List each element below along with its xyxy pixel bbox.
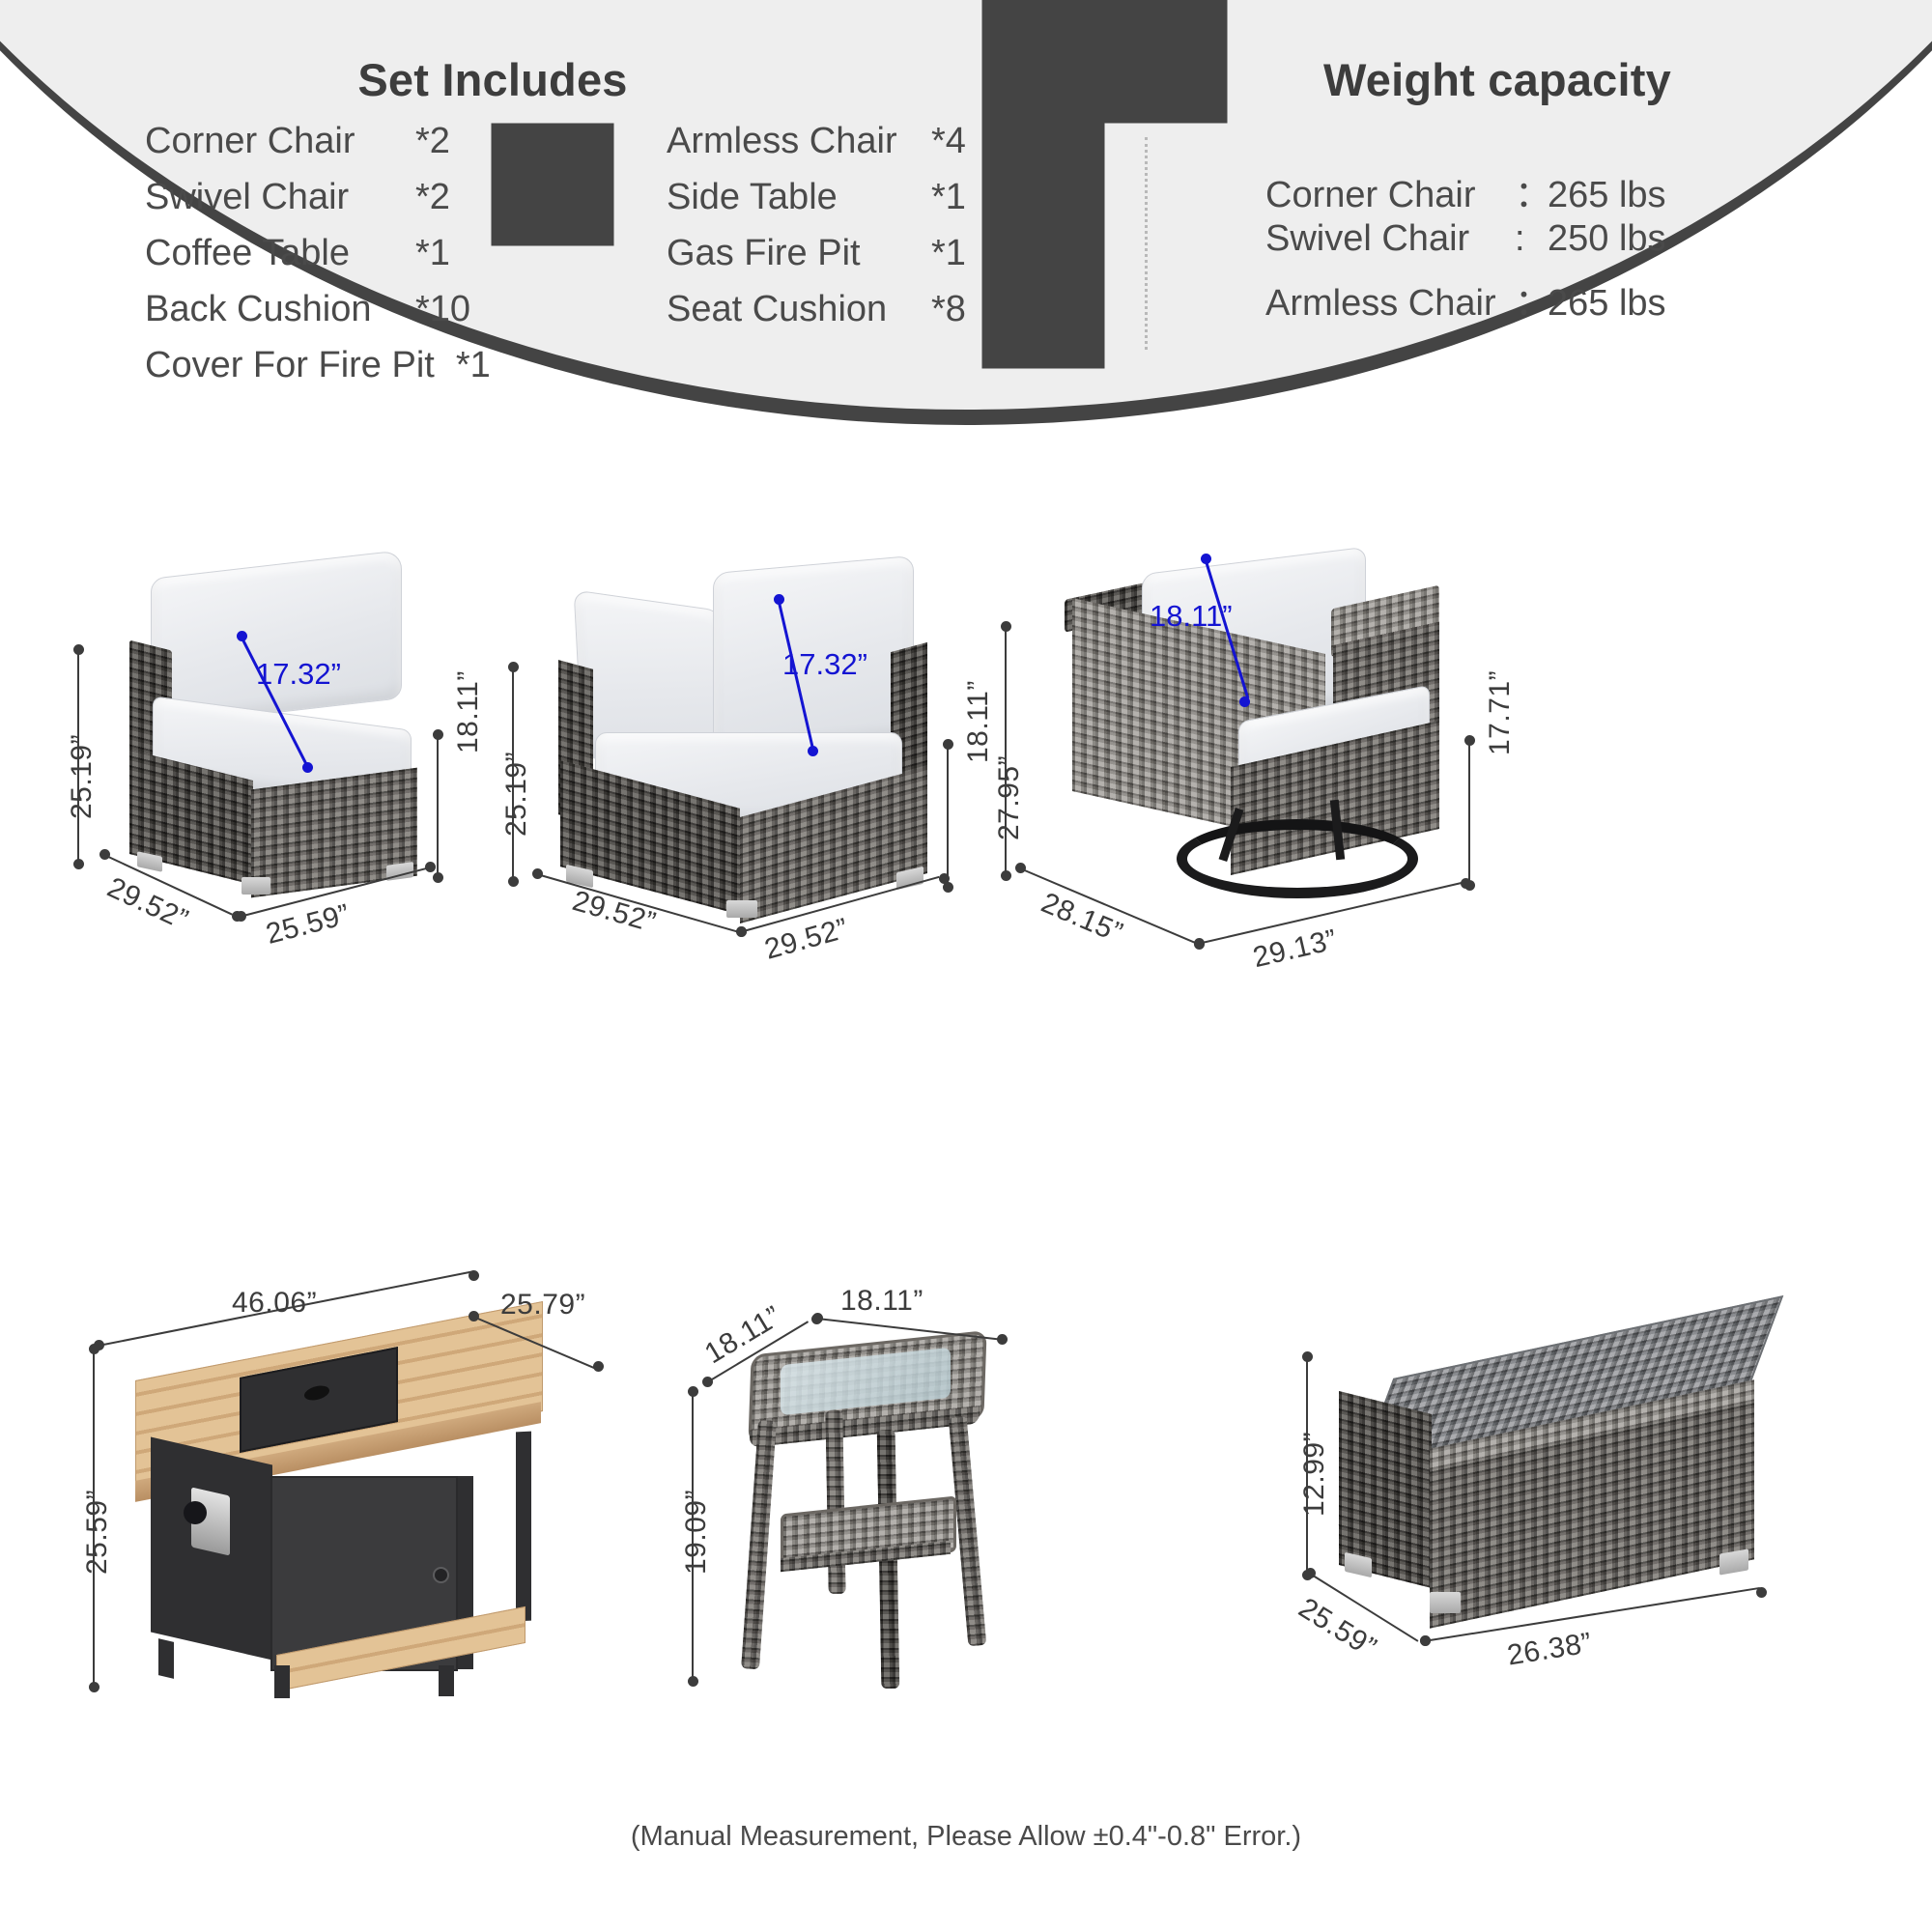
list-item: Swivel Chair *2: [145, 177, 491, 233]
diagram-row-chairs: 17.32” 25.19” 18.11” 29.52” 25.59”: [0, 541, 1932, 995]
swivel-back-cushion-dim: 18.11”: [1150, 599, 1233, 634]
seat-height-dim-line: [1468, 740, 1470, 885]
dim-endpoint: [1194, 938, 1205, 949]
dim-endpoint: [433, 872, 443, 883]
dim-endpoint: [302, 762, 313, 773]
item-qty: *2: [415, 121, 450, 162]
dim-endpoint: [469, 1270, 479, 1281]
dim-endpoint: [1305, 1568, 1316, 1578]
dim-endpoint: [73, 859, 84, 869]
corner-depth-dim: 29.52”: [569, 885, 660, 940]
dim-endpoint: [1464, 735, 1475, 746]
dim-endpoint: [433, 729, 443, 740]
diagram-row-tables: 46.06” 25.79” 25.59” 18.11”: [0, 1294, 1932, 1797]
armless-chair-figure: 17.32” 25.19” 18.11” 29.52” 25.59”: [97, 541, 502, 947]
dim-endpoint: [943, 739, 953, 750]
item-name: Armless Chair: [667, 121, 910, 162]
dim-endpoint: [688, 1676, 698, 1687]
item-name: Corner Chair: [1265, 175, 1515, 216]
corner-seat-height-dim: 18.11”: [962, 680, 995, 763]
list-item: Coffee Table *1: [145, 233, 491, 289]
swivel-height-dim: 27.95”: [993, 755, 1026, 840]
item-name: Coffee Table: [145, 233, 394, 274]
corner-chair-figure: 17.32” 25.19” 18.11” 29.52” 29.52”: [551, 541, 995, 947]
item-value: 265 lbs: [1548, 283, 1666, 325]
dim-endpoint: [89, 1682, 99, 1692]
divider: [1145, 137, 1148, 350]
item-qty: *2: [415, 177, 450, 218]
dim-endpoint: [99, 849, 110, 860]
item-name: Corner Chair: [145, 121, 394, 162]
dim-endpoint: [508, 662, 519, 672]
dim-endpoint: [508, 876, 519, 887]
dim-endpoint: [808, 746, 818, 756]
item-qty: *8: [931, 289, 966, 330]
item-value: 265 lbs: [1548, 175, 1666, 216]
cabinet-door-handle[interactable]: [433, 1567, 449, 1583]
table-foot: [158, 1638, 174, 1679]
dim-endpoint: [736, 926, 747, 937]
cover-width-dim: 26.38”: [1505, 1627, 1594, 1672]
gas-fire-pit-table-figure: 46.06” 25.79” 25.59”: [106, 1294, 609, 1758]
item-name: Swivel Chair: [145, 177, 394, 218]
dim-endpoint: [997, 1334, 1008, 1345]
list-item: Swivel Chair : 250 lbs: [1265, 218, 1666, 272]
dim-endpoint: [688, 1386, 698, 1397]
dim-endpoint: [236, 911, 246, 922]
banner-content: Set Includes Weight capacity Corner Chai…: [0, 0, 1932, 386]
dim-endpoint: [469, 1311, 479, 1321]
firepit-depth-dim: 25.79”: [500, 1289, 585, 1321]
dim-endpoint: [702, 1377, 713, 1387]
chair-foot: [726, 900, 757, 918]
dim-endpoint: [1302, 1351, 1313, 1362]
measurement-disclaimer: (Manual Measurement, Please Allow ±0.4"-…: [0, 1821, 1932, 1853]
dim-endpoint: [1001, 621, 1011, 632]
side-table-figure: 18.11” 18.11” 19.09”: [715, 1314, 1043, 1739]
item-value: 250 lbs: [1548, 218, 1666, 260]
dim-endpoint: [1001, 870, 1011, 881]
list-item: Side Table *1: [667, 177, 966, 233]
swivel-base-ring: [1177, 819, 1418, 898]
list-item: Corner Chair ： 265 lbs: [1265, 164, 1666, 218]
list-item: Corner Chair *2: [145, 121, 491, 177]
list-item: Armless Chair *4: [667, 121, 966, 177]
item-name: Swivel Chair: [1265, 218, 1515, 260]
set-includes-column-left: Corner Chair *2 Swivel Chair *2 Coffee T…: [145, 121, 491, 401]
weight-capacity-list: Corner Chair ： 265 lbs Swivel Chair : 25…: [1265, 164, 1666, 327]
table-foot: [439, 1665, 454, 1696]
dim-endpoint: [774, 594, 784, 605]
item-qty: *1: [415, 233, 450, 274]
item-name: Cover For Fire Pit: [145, 345, 435, 386]
item-separator: ：: [1515, 164, 1548, 217]
item-name: Back Cushion: [145, 289, 394, 330]
armless-depth-dim: 29.52”: [102, 871, 193, 937]
dim-endpoint: [939, 873, 950, 884]
item-qty: *1: [931, 177, 966, 218]
sidetable-height-dim: 19.09”: [680, 1490, 713, 1575]
table-foot: [274, 1665, 290, 1698]
list-item: Gas Fire Pit *1: [667, 233, 966, 289]
dim-endpoint: [1239, 696, 1250, 707]
dim-endpoint: [1461, 878, 1471, 889]
cover-height-dim: 12.99”: [1298, 1432, 1331, 1517]
swivel-chair-figure: 18.11” 27.95” 17.71” 28.15” 29.13”: [1043, 541, 1497, 966]
item-name: Seat Cushion: [667, 289, 910, 330]
list-item: Back Cushion *10: [145, 289, 491, 345]
dim-endpoint: [532, 868, 543, 879]
item-name: Gas Fire Pit: [667, 233, 910, 274]
dim-endpoint: [1756, 1587, 1767, 1598]
dim-endpoint: [89, 1344, 99, 1354]
cover-foot: [1430, 1592, 1461, 1613]
list-item: Seat Cushion *8: [667, 289, 966, 345]
item-separator: :: [1515, 218, 1548, 260]
header-banner: Set Includes Weight capacity Corner Chai…: [0, 0, 1932, 502]
item-separator: ：: [1515, 272, 1548, 326]
set-includes-title: Set Includes: [290, 53, 696, 106]
cover-depth-dim: 25.59”: [1293, 1592, 1382, 1665]
swivel-seat-height-dim: 17.71”: [1484, 670, 1517, 755]
set-includes-column-right: Armless Chair *4 Side Table *1 Gas Fire …: [667, 121, 966, 345]
dim-endpoint: [73, 644, 84, 655]
table-leg: [516, 1432, 531, 1622]
chair-foot: [241, 877, 270, 895]
item-name: Side Table: [667, 177, 910, 218]
item-qty: *1: [931, 233, 966, 274]
item-qty: *4: [931, 121, 966, 162]
dim-endpoint: [1015, 863, 1026, 873]
width-dim-line: [817, 1318, 1002, 1341]
armless-seat-height-dim: 18.11”: [452, 670, 485, 753]
corner-back-cushion-dim: 17.32”: [782, 647, 867, 682]
armless-back-cushion-dim: 17.32”: [256, 657, 341, 692]
armless-height-dim: 25.19”: [66, 734, 99, 819]
dim-endpoint: [812, 1313, 823, 1323]
dim-endpoint: [425, 862, 436, 872]
list-item: Armless Chair ： 265 lbs: [1265, 272, 1666, 327]
swivel-depth-dim: 28.15”: [1037, 887, 1127, 951]
weight-capacity-title: Weight capacity: [1246, 53, 1748, 106]
swivel-width-dim: 29.13”: [1250, 923, 1340, 975]
seat-height-dim-line: [437, 734, 439, 877]
dim-endpoint: [593, 1361, 604, 1372]
item-name: Armless Chair: [1265, 283, 1515, 325]
sidetable-width-dim: 18.11”: [840, 1285, 923, 1318]
table-leg: [741, 1420, 777, 1670]
corner-height-dim: 25.19”: [500, 752, 533, 837]
fire-pit-cover-figure: 12.99” 25.59” 26.38”: [1323, 1314, 1826, 1739]
dim-endpoint: [237, 631, 247, 641]
item-qty: *1: [456, 345, 491, 386]
control-knob[interactable]: [184, 1501, 207, 1524]
cover-foot: [1719, 1548, 1748, 1575]
item-qty: *10: [415, 289, 470, 330]
list-item: Cover For Fire Pit *1: [145, 345, 491, 401]
firepit-height-dim: 25.59”: [81, 1490, 114, 1575]
firepit-length-dim: 46.06”: [232, 1287, 317, 1320]
dim-endpoint: [1420, 1635, 1431, 1646]
seat-height-dim-line: [947, 744, 949, 887]
dim-endpoint: [1201, 554, 1211, 564]
